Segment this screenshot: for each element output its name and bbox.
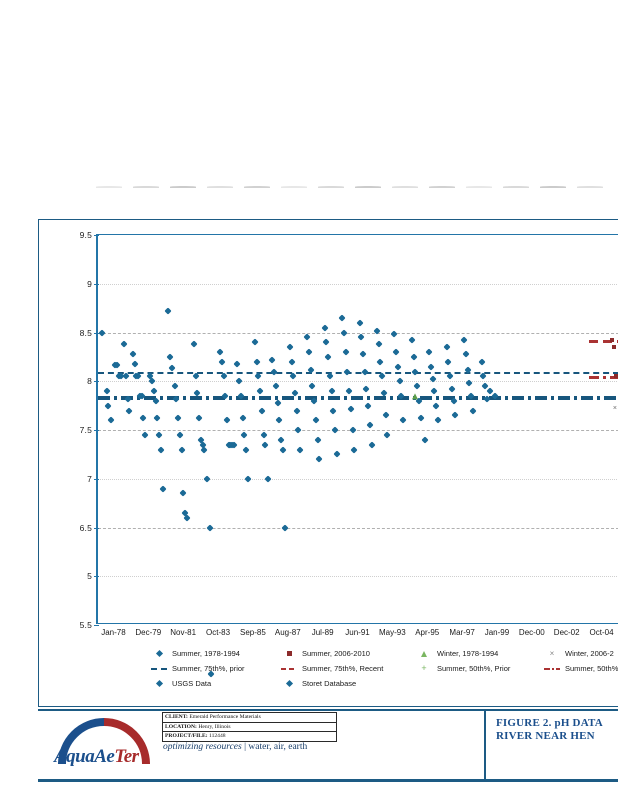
data-point bbox=[282, 524, 289, 531]
y-tick-mark bbox=[94, 576, 99, 577]
data-point bbox=[164, 308, 171, 315]
diamond-marker-icon bbox=[155, 680, 162, 687]
legend-item[interactable]: Winter, 1978-1994 bbox=[416, 646, 498, 661]
x-tick-label: Dec-00 bbox=[519, 628, 545, 637]
legend-key bbox=[281, 649, 297, 658]
data-point bbox=[262, 441, 269, 448]
legend-item[interactable]: Storet Database bbox=[281, 676, 356, 691]
data-point bbox=[349, 426, 356, 433]
data-point bbox=[157, 446, 164, 453]
legend-row: USGS DataStoret Database bbox=[96, 676, 614, 691]
info-value: Henry, Illinois bbox=[198, 724, 230, 730]
info-label: LOCATION: bbox=[165, 724, 197, 730]
company-tagline: optimizing resources | water, air, earth bbox=[163, 742, 463, 752]
data-point bbox=[462, 350, 469, 357]
data-point bbox=[103, 387, 110, 394]
legend-label: Winter, 1978-1994 bbox=[437, 649, 498, 658]
legend-key bbox=[151, 679, 167, 688]
data-point bbox=[427, 363, 434, 370]
legend-label: Storet Database bbox=[302, 679, 356, 688]
data-point bbox=[384, 431, 391, 438]
data-point bbox=[452, 412, 459, 419]
data-point bbox=[288, 358, 295, 365]
data-point bbox=[412, 393, 418, 399]
x-tick-label: Jun-91 bbox=[345, 628, 369, 637]
diamond-marker-icon bbox=[285, 680, 292, 687]
legend-item[interactable]: Summer, 50th% bbox=[544, 661, 618, 676]
data-point bbox=[216, 348, 223, 355]
y-tick-mark bbox=[94, 625, 99, 626]
legend-label: USGS Data bbox=[172, 679, 211, 688]
legend-key bbox=[416, 649, 432, 658]
x-tick-label: Oct-04 bbox=[590, 628, 614, 637]
y-tick-mark bbox=[94, 528, 99, 529]
data-point bbox=[379, 373, 386, 380]
data-point bbox=[236, 378, 243, 385]
logo-text-accent: Ter bbox=[114, 746, 138, 767]
y-tick-mark bbox=[94, 479, 99, 480]
data-point bbox=[312, 417, 319, 424]
info-value: Emerald Performance Materials bbox=[189, 714, 260, 720]
data-point bbox=[258, 407, 265, 414]
data-point bbox=[461, 337, 468, 344]
y-tick-label: 7.5 bbox=[80, 425, 92, 435]
data-point bbox=[316, 456, 323, 463]
aquaaeter-logo: AquaAeTer bbox=[50, 716, 158, 768]
y-tick-label: 9 bbox=[87, 279, 92, 289]
data-point bbox=[345, 387, 352, 394]
data-point bbox=[276, 417, 283, 424]
data-point bbox=[160, 485, 167, 492]
data-point bbox=[610, 338, 614, 342]
legend-label: Summer, 75th%, Recent bbox=[302, 664, 383, 673]
project-info-table: CLIENT: Emerald Performance MaterialsLOC… bbox=[162, 712, 337, 742]
data-point bbox=[347, 405, 354, 412]
data-point bbox=[344, 368, 351, 375]
info-value: 112448 bbox=[209, 733, 226, 739]
data-point bbox=[290, 373, 297, 380]
figure-title: FIGURE 2. pH DATA RIVER NEAR HEN bbox=[496, 717, 618, 743]
y-tick-mark bbox=[94, 381, 99, 382]
dashdot-red-line-icon bbox=[544, 668, 560, 670]
data-point bbox=[408, 337, 415, 344]
gridline bbox=[98, 479, 618, 480]
data-point bbox=[469, 407, 476, 414]
data-point bbox=[206, 524, 213, 531]
info-row: PROJECT/FILE: 112448 bbox=[163, 732, 336, 741]
data-point bbox=[142, 431, 149, 438]
y-tick-label: 5.5 bbox=[80, 620, 92, 630]
diamond-marker-icon bbox=[155, 650, 162, 657]
data-point bbox=[614, 374, 618, 378]
data-point bbox=[150, 387, 157, 394]
data-point bbox=[326, 373, 333, 380]
x-tick-label: May-93 bbox=[379, 628, 406, 637]
y-tick-label: 8.5 bbox=[80, 328, 92, 338]
y-tick-mark bbox=[94, 235, 99, 236]
legend-key bbox=[151, 664, 167, 673]
data-point bbox=[171, 383, 178, 390]
data-point bbox=[244, 475, 251, 482]
square-marker-icon bbox=[287, 651, 292, 656]
scan-edge-artifact bbox=[0, 183, 618, 193]
data-point bbox=[410, 353, 417, 360]
data-point bbox=[264, 475, 271, 482]
data-point bbox=[342, 348, 349, 355]
x-axis: Jan-78Dec-79Nov-81Oct-83Sep-85Aug-87Jul-… bbox=[96, 628, 618, 644]
title-block-bottom-rule bbox=[38, 779, 618, 782]
reference-line bbox=[98, 372, 618, 374]
data-point bbox=[332, 426, 339, 433]
tagline-italic: optimizing resources bbox=[163, 742, 242, 752]
data-point bbox=[426, 348, 433, 355]
data-point bbox=[297, 446, 304, 453]
data-point bbox=[328, 387, 335, 394]
y-tick-label: 9.5 bbox=[80, 230, 92, 240]
data-point bbox=[176, 431, 183, 438]
ph-scatter-chart: 9.598.587.576.555.5 Jan-78Dec-79Nov-81Oc… bbox=[39, 220, 618, 640]
data-point bbox=[192, 373, 199, 380]
data-point bbox=[126, 407, 133, 414]
data-point bbox=[295, 426, 302, 433]
data-point bbox=[243, 446, 250, 453]
data-point bbox=[445, 358, 452, 365]
data-point bbox=[356, 319, 363, 326]
data-point bbox=[169, 364, 176, 371]
data-point bbox=[330, 407, 337, 414]
data-point bbox=[234, 360, 241, 367]
x-tick-label: Mar-97 bbox=[449, 628, 474, 637]
data-point bbox=[612, 345, 616, 349]
data-point bbox=[359, 350, 366, 357]
data-point bbox=[365, 402, 372, 409]
data-point bbox=[340, 329, 347, 336]
legend-item[interactable]: USGS Data bbox=[151, 676, 211, 691]
plus-marker-icon: + bbox=[421, 664, 426, 673]
legend-key bbox=[544, 664, 560, 673]
data-point bbox=[448, 386, 455, 393]
data-point bbox=[220, 373, 227, 380]
data-point bbox=[122, 373, 129, 380]
data-point bbox=[251, 339, 258, 346]
legend-label: Summer, 1978-1994 bbox=[172, 649, 240, 658]
data-point bbox=[361, 368, 368, 375]
data-point bbox=[309, 383, 316, 390]
legend-item[interactable]: Summer, 75th%, Recent bbox=[281, 661, 383, 676]
legend-row: Summer, 1978-1994Summer, 2006-2010Winter… bbox=[96, 646, 614, 661]
data-point bbox=[323, 339, 330, 346]
y-tick-mark bbox=[94, 430, 99, 431]
data-point bbox=[339, 314, 346, 321]
data-point bbox=[108, 417, 115, 424]
x-tick-label: Dec-79 bbox=[135, 628, 161, 637]
y-tick-label: 7 bbox=[87, 474, 92, 484]
info-label: PROJECT/FILE: bbox=[165, 733, 208, 739]
data-point bbox=[412, 368, 419, 375]
data-point bbox=[325, 353, 332, 360]
title-block-vertical-rule bbox=[484, 711, 486, 779]
data-point bbox=[333, 451, 340, 458]
legend-label: Winter, 2006-2 bbox=[565, 649, 614, 658]
data-point bbox=[394, 363, 401, 370]
data-point bbox=[434, 417, 441, 424]
info-row: CLIENT: Emerald Performance Materials bbox=[163, 713, 336, 723]
data-point bbox=[443, 344, 450, 351]
data-point bbox=[351, 446, 358, 453]
x-tick-label: Apr-95 bbox=[415, 628, 439, 637]
legend-key: × bbox=[544, 649, 560, 658]
data-point bbox=[382, 412, 389, 419]
data-point bbox=[148, 378, 155, 385]
data-point bbox=[105, 402, 112, 409]
data-point bbox=[241, 431, 248, 438]
data-point bbox=[203, 475, 210, 482]
data-point bbox=[286, 344, 293, 351]
info-label: CLIENT: bbox=[165, 714, 188, 720]
gridline bbox=[98, 284, 618, 285]
data-point bbox=[271, 368, 278, 375]
data-point bbox=[218, 358, 225, 365]
dashed-red-line-icon bbox=[281, 668, 297, 670]
x-tick-label: Sep-85 bbox=[240, 628, 266, 637]
legend-key: + bbox=[416, 664, 432, 673]
figure-title-line1: FIGURE 2. pH DATA bbox=[496, 717, 618, 730]
data-point bbox=[278, 436, 285, 443]
data-point bbox=[377, 358, 384, 365]
gridline bbox=[98, 576, 618, 577]
legend-label: Summer, 50th%, Prior bbox=[437, 664, 510, 673]
x-tick-label: Jan-78 bbox=[101, 628, 125, 637]
x-tick-label: Nov-81 bbox=[170, 628, 196, 637]
data-point bbox=[612, 406, 618, 412]
data-point bbox=[478, 358, 485, 365]
data-point bbox=[305, 348, 312, 355]
data-point bbox=[433, 402, 440, 409]
dashed-blue-line-icon bbox=[151, 668, 167, 670]
legend-item[interactable]: Summer, 75th%, prior bbox=[151, 661, 245, 676]
data-point bbox=[239, 415, 246, 422]
data-point bbox=[196, 415, 203, 422]
cross-marker-icon: × bbox=[550, 650, 555, 658]
gridline bbox=[98, 430, 618, 431]
y-tick-mark bbox=[94, 284, 99, 285]
legend-key bbox=[281, 679, 297, 688]
legend-key bbox=[281, 664, 297, 673]
y-tick-label: 6.5 bbox=[80, 523, 92, 533]
data-point bbox=[223, 417, 230, 424]
data-point bbox=[375, 341, 382, 348]
y-tick-label: 5 bbox=[87, 571, 92, 581]
data-point bbox=[99, 329, 106, 336]
data-point bbox=[178, 446, 185, 453]
data-point bbox=[368, 441, 375, 448]
data-point bbox=[167, 353, 174, 360]
legend-label: Summer, 2006-2010 bbox=[302, 649, 370, 658]
data-point bbox=[272, 383, 279, 390]
data-point bbox=[260, 431, 267, 438]
data-point bbox=[154, 415, 161, 422]
legend-item[interactable]: ×Winter, 2006-2 bbox=[544, 646, 614, 661]
data-point bbox=[417, 415, 424, 422]
gridline bbox=[98, 381, 618, 382]
data-point bbox=[304, 334, 311, 341]
data-point bbox=[140, 415, 147, 422]
data-point bbox=[121, 341, 128, 348]
title-block-top-divider bbox=[38, 709, 618, 711]
drawing-frame: 9.598.587.576.555.5 Jan-78Dec-79Nov-81Oc… bbox=[38, 219, 618, 707]
figure-title-line2: RIVER NEAR HEN bbox=[496, 730, 618, 743]
data-point bbox=[155, 431, 162, 438]
data-point bbox=[393, 348, 400, 355]
data-point bbox=[180, 490, 187, 497]
data-point bbox=[421, 436, 428, 443]
data-point bbox=[480, 373, 487, 380]
data-point bbox=[131, 360, 138, 367]
x-tick-label: Aug-87 bbox=[275, 628, 301, 637]
triangle-marker-icon bbox=[421, 651, 427, 657]
data-point bbox=[183, 514, 190, 521]
data-point bbox=[175, 415, 182, 422]
data-point bbox=[190, 341, 197, 348]
data-point bbox=[363, 386, 370, 393]
legend-label: Summer, 75th%, prior bbox=[172, 664, 245, 673]
y-tick-label: 8 bbox=[87, 376, 92, 386]
data-point bbox=[257, 387, 264, 394]
data-point bbox=[114, 361, 121, 368]
data-point bbox=[413, 383, 420, 390]
logo-wordmark: AquaAeTer bbox=[54, 746, 158, 768]
legend-label: Summer, 50th% bbox=[565, 664, 618, 673]
legend-item[interactable]: +Summer, 50th%, Prior bbox=[416, 661, 510, 676]
info-row: LOCATION: Henry, Illinois bbox=[163, 723, 336, 733]
data-point bbox=[253, 358, 260, 365]
data-point bbox=[279, 446, 286, 453]
data-point bbox=[396, 378, 403, 385]
data-point bbox=[400, 417, 407, 424]
legend-row: Summer, 75th%, priorSummer, 75th%, Recen… bbox=[96, 661, 614, 676]
data-point bbox=[129, 350, 136, 357]
legend-key bbox=[151, 649, 167, 658]
legend-item[interactable]: Summer, 2006-2010 bbox=[281, 646, 370, 661]
x-tick-label: Jul-89 bbox=[312, 628, 334, 637]
x-tick-label: Oct-83 bbox=[206, 628, 230, 637]
x-tick-label: Dec-02 bbox=[554, 628, 580, 637]
data-point bbox=[201, 446, 208, 453]
data-point bbox=[321, 324, 328, 331]
data-point bbox=[293, 407, 300, 414]
chart-legend: Summer, 1978-1994Summer, 2006-2010Winter… bbox=[96, 646, 614, 691]
tagline-rest: | water, air, earth bbox=[244, 742, 307, 752]
gridline bbox=[98, 528, 618, 529]
data-point bbox=[431, 387, 438, 394]
data-point bbox=[358, 334, 365, 341]
x-tick-label: Jan-99 bbox=[485, 628, 509, 637]
plot-area: 9.598.587.576.555.5 bbox=[96, 234, 618, 624]
logo-text-primary: AquaAe bbox=[54, 746, 114, 767]
data-point bbox=[255, 373, 262, 380]
data-point bbox=[269, 356, 276, 363]
data-point bbox=[366, 422, 373, 429]
gridline bbox=[98, 333, 618, 334]
legend-item[interactable]: Summer, 1978-1994 bbox=[151, 646, 240, 661]
data-point bbox=[447, 373, 454, 380]
data-point bbox=[314, 436, 321, 443]
